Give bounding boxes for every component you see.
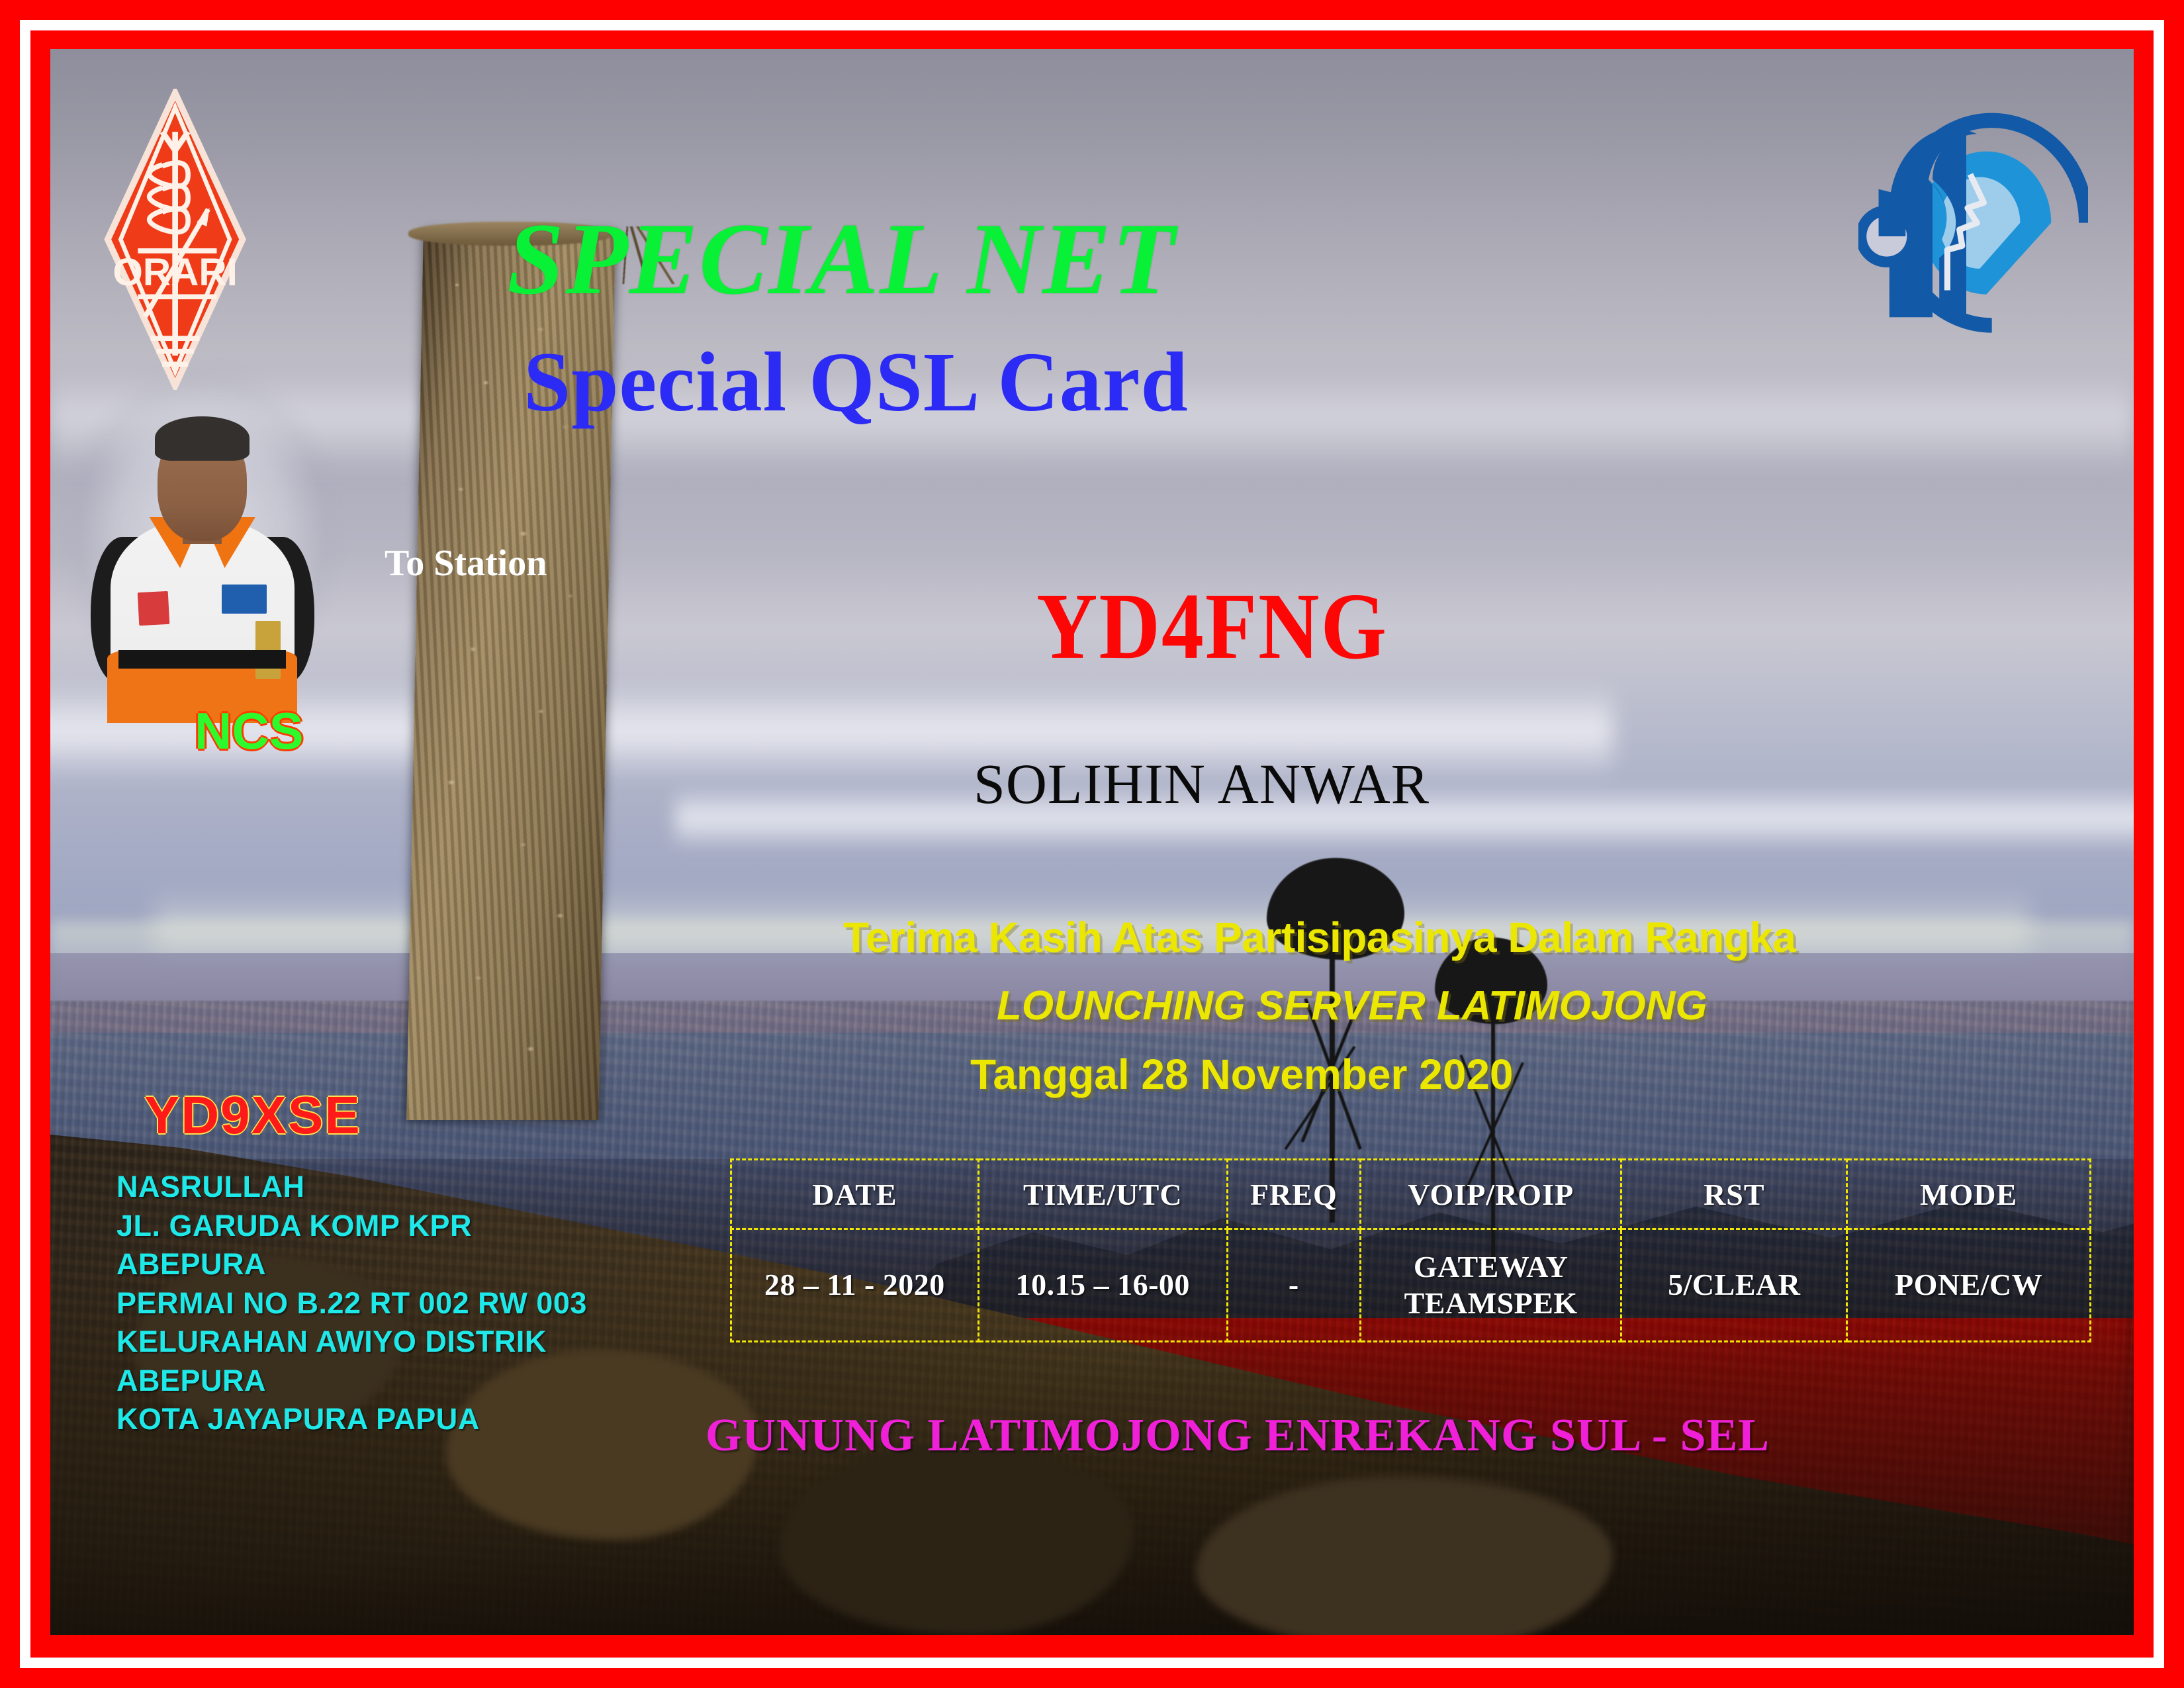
thanks-line: Terima Kasih Atas Partisipasinya Dalam R… xyxy=(843,913,1796,962)
ncs-operator-portrait xyxy=(63,358,342,723)
address-line: KELURAHAN AWIYO DISTRIK xyxy=(116,1323,587,1362)
address-line: PERMAI NO B.22 RT 002 RW 003 xyxy=(116,1284,587,1323)
qsl-card: ORARI SPECIAL xyxy=(0,0,2184,1688)
table-header-row: DATE TIME/UTC FREQ VOIP/ROIP RST MODE xyxy=(731,1160,2091,1229)
rock-blob xyxy=(780,1444,1134,1635)
portrait-belt xyxy=(118,650,286,669)
qso-details-table: DATE TIME/UTC FREQ VOIP/ROIP RST MODE 28… xyxy=(730,1158,2091,1342)
cell-rst: 5/CLEAR xyxy=(1621,1229,1847,1342)
to-station-label: To Station xyxy=(385,542,547,585)
ncs-badge: NCS xyxy=(195,701,304,761)
ncs-address-block: NASRULLAH JL. GARUDA KOMP KPR ABEPURA PE… xyxy=(116,1168,587,1439)
cell-date: 28 – 11 - 2020 xyxy=(731,1229,979,1342)
address-line: JL. GARUDA KOMP KPR xyxy=(116,1207,587,1246)
event-line: LOUNCHING SERVER LATIMOJONG xyxy=(997,982,1707,1029)
cell-voip-line1: GATEWAY xyxy=(1362,1249,1619,1285)
cell-time: 10.15 – 16-00 xyxy=(978,1229,1227,1342)
address-line: KOTA JAYAPURA PAPUA xyxy=(116,1400,587,1439)
page-title: SPECIAL NET xyxy=(507,200,1176,318)
address-line: ABEPURA xyxy=(116,1362,587,1401)
portrait-patch-left xyxy=(137,591,169,626)
column-header-date: DATE xyxy=(731,1160,979,1229)
location-line: GUNUNG LATIMOJONG ENREKANG SUL - SEL xyxy=(705,1409,1770,1462)
address-line: NASRULLAH xyxy=(116,1168,587,1207)
cell-voip-line2: TEAMSPEK xyxy=(1362,1286,1619,1321)
page-subtitle: Special QSL Card xyxy=(523,334,1189,431)
orari-logo: ORARI xyxy=(81,89,269,390)
operator-name: SOLIHIN ANWAR xyxy=(974,751,1430,817)
column-header-time: TIME/UTC xyxy=(978,1160,1227,1229)
web-address: Address : amatir.latimojong.com xyxy=(1324,1634,1954,1635)
cell-mode: PONE/CW xyxy=(1847,1229,2091,1342)
event-date: Tanggal 28 November 2020 xyxy=(970,1050,1514,1099)
slogan-text: "AMATIR RADIO ADALAH PROGRESIVE" xyxy=(130,1634,1038,1635)
address-line: ABEPURA xyxy=(116,1245,587,1284)
cell-freq: - xyxy=(1227,1229,1360,1342)
background-photograph: ORARI SPECIAL xyxy=(50,49,2134,1635)
column-header-freq: FREQ xyxy=(1227,1160,1360,1229)
cell-voip: GATEWAY TEAMSPEK xyxy=(1360,1229,1621,1342)
headphones-face-waves-icon xyxy=(1858,92,2087,353)
portrait-hair xyxy=(155,416,250,460)
ncs-callsign: YD9XSE xyxy=(144,1085,361,1146)
column-header-mode: MODE xyxy=(1847,1160,2091,1229)
orari-logo-text: ORARI xyxy=(113,251,238,294)
column-header-voip: VOIP/ROIP xyxy=(1360,1160,1621,1229)
portrait-patch-right xyxy=(222,585,266,614)
recipient-callsign: YD4FNG xyxy=(1036,572,1388,681)
table-row: 28 – 11 - 2020 10.15 – 16-00 - GATEWAY T… xyxy=(731,1229,2091,1342)
column-header-rst: RST xyxy=(1621,1160,1847,1229)
